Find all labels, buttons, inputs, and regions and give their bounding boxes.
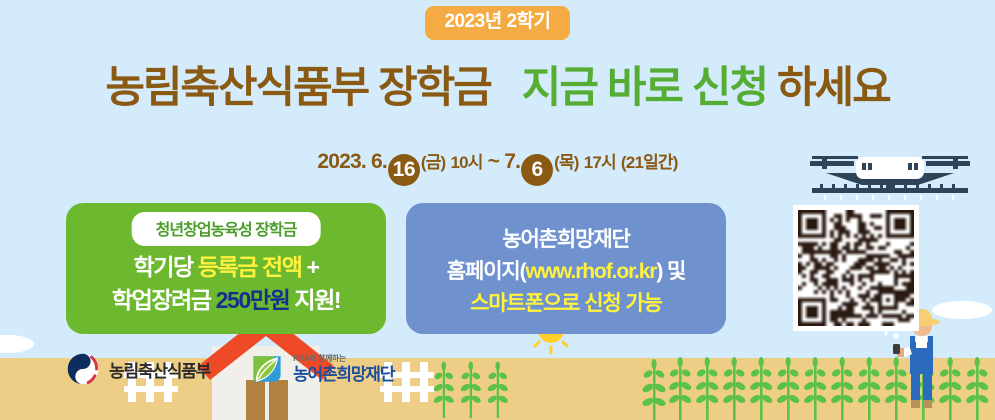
benefit-line-2-amount: 250만원 [216,287,290,313]
logo-rhof: KRA와 함께하는 농어촌희망재단 [250,352,394,386]
date-start-prefix: 2023. 6. [317,150,387,173]
date-end-time: 17시 [584,153,616,172]
headline-part-2: 지금 바로 신청 [522,64,767,112]
date-start-weekday: (금) [421,153,446,172]
foundation-website-url[interactable]: www.rhof.or.kr [526,260,657,283]
date-end-prefix: 7. [504,150,520,173]
application-period: 2023. 6.16(금) 10시 ~ 7.6(목) 17시 (21일간) [0,148,995,186]
date-end-day: 6 [521,154,553,186]
logo-rhof-label: 농어촌희망재단 [293,366,394,383]
cloud-icon [932,301,992,319]
date-start-time: 10시 [450,153,482,172]
page-title: 농림축산식품부 장학금 지금 바로 신청 하세요 [0,64,995,113]
channel-line-2: 홈페이지(www.rhof.or.kr) 및 [406,256,726,288]
benefit-line-1-a: 학기당 [133,254,192,280]
benefit-line-2-c: 지원! [294,287,340,313]
benefit-line-2: 학업장려금 250만원 지원! [66,284,386,317]
application-qr-code[interactable] [793,205,919,331]
logo-rhof-text: KRA와 함께하는 농어촌희망재단 [293,355,394,383]
application-channel-text: 농어촌희망재단 홈페이지(www.rhof.or.kr) 및 스마트폰으로 신청… [406,224,726,320]
green-leaf-icon [250,352,284,386]
scholarship-banner: 2023년 2학기 농림축산식품부 장학금 지금 바로 신청 하세요 2023.… [0,0,995,420]
logo-mafra: 농림축산식품부 [66,352,210,386]
scholarship-type-label: 청년창업농육성 장학금 [132,212,321,246]
application-channel-card: 농어촌희망재단 홈페이지(www.rhof.or.kr) 및 스마트폰으로 신청… [406,203,726,334]
channel-line-1: 농어촌희망재단 [406,224,726,256]
logo-mafra-label: 농림축산식품부 [109,357,210,382]
footer-logos: 농림축산식품부 KRA와 함께하는 농어촌희망재단 [66,352,394,386]
benefit-line-1-c: + [307,254,319,280]
date-start-day: 16 [388,154,420,186]
headline-part-1: 농림축산식품부 장학금 [105,64,491,112]
date-range-tilde: ~ [488,150,499,173]
channel-line-2-a: 홈페이지( [447,260,526,283]
channel-line-2-b: ) 및 [656,260,685,283]
headline-part-3: 하세요 [777,64,890,112]
crop-row-far-left [433,362,509,419]
scholarship-benefit-text: 학기당 등록금 전액 + 학업장려금 250만원 지원! [66,251,386,316]
benefit-line-2-a: 학업장려금 [112,287,211,313]
channel-line-3: 스마트폰으로 신청 가능 [406,288,726,320]
benefit-line-1-highlight: 등록금 전액 [198,254,302,280]
logo-rhof-kicker: KRA와 함께하는 [293,355,394,363]
date-duration: (21일간) [621,153,678,172]
korea-government-taegeuk-icon [66,352,100,386]
date-end-weekday: (목) [554,153,579,172]
benefit-line-1: 학기당 등록금 전액 + [66,251,386,284]
semester-badge: 2023년 2학기 [425,6,569,40]
scholarship-benefit-card: 청년창업농육성 장학금 학기당 등록금 전액 + 학업장려금 250만원 지원! [66,203,386,334]
qr-code-image [798,210,914,326]
cloud-icon [0,335,34,353]
